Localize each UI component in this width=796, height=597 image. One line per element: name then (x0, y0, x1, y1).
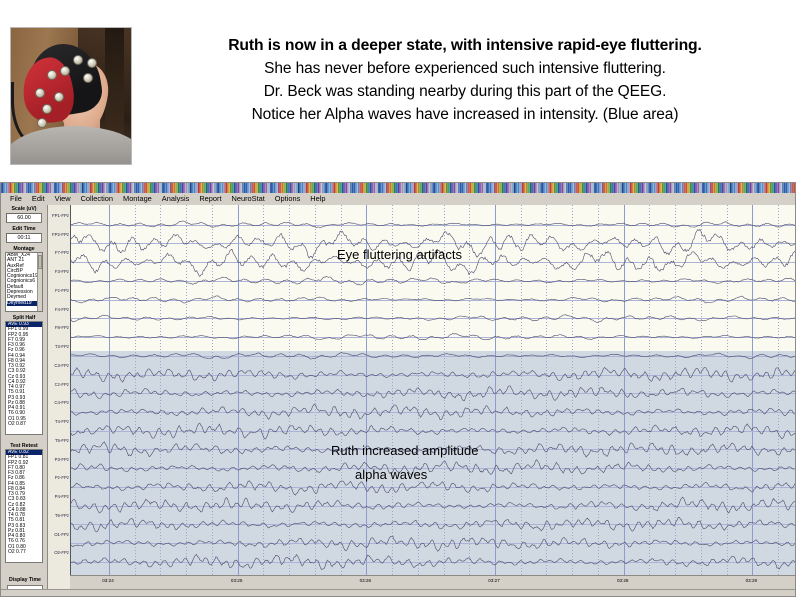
annotation-alpha-amplitude: Ruth increased amplitude (331, 443, 478, 458)
menu-bar[interactable]: File Edit View Collection Montage Analys… (1, 193, 796, 204)
channel-label: F8-FPz (55, 325, 69, 330)
menu-file[interactable]: File (5, 194, 27, 203)
menu-collection[interactable]: Collection (76, 194, 118, 203)
caption-line-2: She has never before experienced such in… (140, 57, 790, 80)
annotation-alpha-waves: alpha waves (355, 467, 427, 482)
montage-scrollbar[interactable] (37, 253, 42, 311)
eeg-plot-panel: FP1-FPzFP2-FPzF7-FPzF3-FPzFz-FPzF4-FPzF8… (47, 205, 796, 597)
menu-neurostat[interactable]: NeuroStat (227, 194, 270, 203)
edit-time-input[interactable]: 00:11 (6, 233, 42, 243)
titlebar-render-artifact (1, 183, 796, 193)
metric-row[interactable]: O2 0.77 (6, 550, 42, 555)
time-tick-label: 03:24 (102, 578, 114, 583)
channel-label: C3-FPz (54, 363, 69, 368)
channel-label: O2-FPz (54, 550, 69, 555)
slide-header: Ruth is now in a deeper state, with inte… (0, 0, 796, 182)
montage-listbox[interactable]: ABM_X24ANT 21AuxRefCircBPCognionics19Cog… (5, 252, 43, 312)
photo-electrode (87, 58, 97, 68)
slide-page: Ruth is now in a deeper state, with inte… (0, 0, 796, 597)
eeg-channel-trace (71, 554, 796, 569)
channel-label: C4-FPz (54, 400, 69, 405)
caption-line-4: Notice her Alpha waves have increased in… (140, 103, 790, 126)
channel-label: P4-FPz (55, 494, 69, 499)
scrollbar-thumb[interactable] (38, 255, 42, 269)
montage-label: Montage (2, 245, 46, 252)
time-tick-label: 03:27 (488, 578, 500, 583)
channel-label: T4-FPz (55, 419, 69, 424)
caption-line-1: Ruth is now in a deeper state, with inte… (140, 34, 790, 57)
caption-line-3: Dr. Beck was standing nearby during this… (140, 80, 790, 103)
eeg-trace-area[interactable]: Eye fluttering artifacts Ruth increased … (70, 205, 796, 575)
display-time-label: Display Time (5, 577, 45, 583)
menu-report[interactable]: Report (194, 194, 226, 203)
channel-label: T6-FPz (55, 513, 69, 518)
eeg-channel-trace (71, 537, 796, 552)
eeg-channel-trace (71, 367, 796, 382)
photo-electrode (83, 73, 93, 83)
menu-edit[interactable]: Edit (27, 194, 50, 203)
menu-options[interactable]: Options (270, 194, 305, 203)
annotation-eye-fluttering: Eye fluttering artifacts (337, 247, 462, 262)
channel-label: F4-FPz (55, 307, 69, 312)
channel-label: FP1-FPz (52, 213, 69, 218)
metric-row[interactable]: O2 0.87 (6, 422, 42, 427)
eeg-channel-trace (71, 276, 796, 285)
eeg-channel-trace (71, 386, 796, 401)
eeg-application-window: File Edit View Collection Montage Analys… (0, 182, 796, 597)
scale-label: Scale (uV) (2, 205, 46, 212)
eeg-channel-trace (71, 423, 796, 439)
time-tick-label: 03:29 (746, 578, 758, 583)
status-bar (1, 589, 796, 596)
channel-label: Fz-FPz (55, 288, 69, 293)
channel-label: P3-FPz (55, 457, 69, 462)
channel-label-column: FP1-FPzFP2-FPzF7-FPzF3-FPzFz-FPzF4-FPzF8… (48, 205, 70, 575)
eeg-channel-trace (71, 517, 796, 532)
slide-caption: Ruth is now in a deeper state, with inte… (140, 34, 790, 126)
eeg-channel-trace (71, 404, 796, 420)
channel-label: F3-FPz (55, 269, 69, 274)
time-tick-label: 03:26 (360, 578, 372, 583)
edit-time-label: Edit Time (2, 225, 46, 232)
channel-label: T3-FPz (55, 344, 69, 349)
eeg-channel-trace (71, 353, 796, 359)
eeg-cap-photo (10, 27, 132, 165)
channel-label: Cz-FPz (55, 382, 69, 387)
time-tick-label: 03:25 (231, 578, 243, 583)
eeg-channel-trace (71, 334, 796, 340)
menu-view[interactable]: View (50, 194, 76, 203)
scale-input[interactable]: 60.00 (6, 213, 42, 223)
left-control-sidebar: Scale (uV) 60.00 Edit Time 00:11 Montage… (2, 205, 46, 597)
menu-help[interactable]: Help (305, 194, 330, 203)
eeg-channel-trace (71, 221, 796, 227)
eeg-channel-trace (71, 460, 796, 475)
channel-label: T5-FPz (55, 438, 69, 443)
split-half-label: Split Half (2, 314, 46, 321)
test-retest-label: Test Retest (2, 442, 46, 449)
eeg-channel-trace (71, 497, 796, 513)
eeg-channel-trace (71, 315, 796, 323)
eeg-channel-trace (71, 296, 796, 303)
menu-analysis[interactable]: Analysis (157, 194, 195, 203)
split-half-list[interactable]: AVE 0.93FP1 0.99FP2 0.95F7 0.99F3 0.96Fz… (5, 321, 43, 435)
photo-doorway (105, 28, 124, 134)
test-retest-list[interactable]: AVE 0.82FP1 0.81FP2 0.92F7 0.80F3 0.87Fz… (5, 449, 43, 563)
channel-label: O1-FPz (54, 532, 69, 537)
window-titlebar[interactable] (1, 183, 796, 193)
channel-label: Pz-FPz (55, 475, 69, 480)
channel-label: F7-FPz (55, 250, 69, 255)
menu-montage[interactable]: Montage (118, 194, 157, 203)
channel-label: FP2-FPz (52, 232, 69, 237)
time-tick-label: 03:28 (617, 578, 629, 583)
eeg-channel-trace (71, 481, 796, 495)
